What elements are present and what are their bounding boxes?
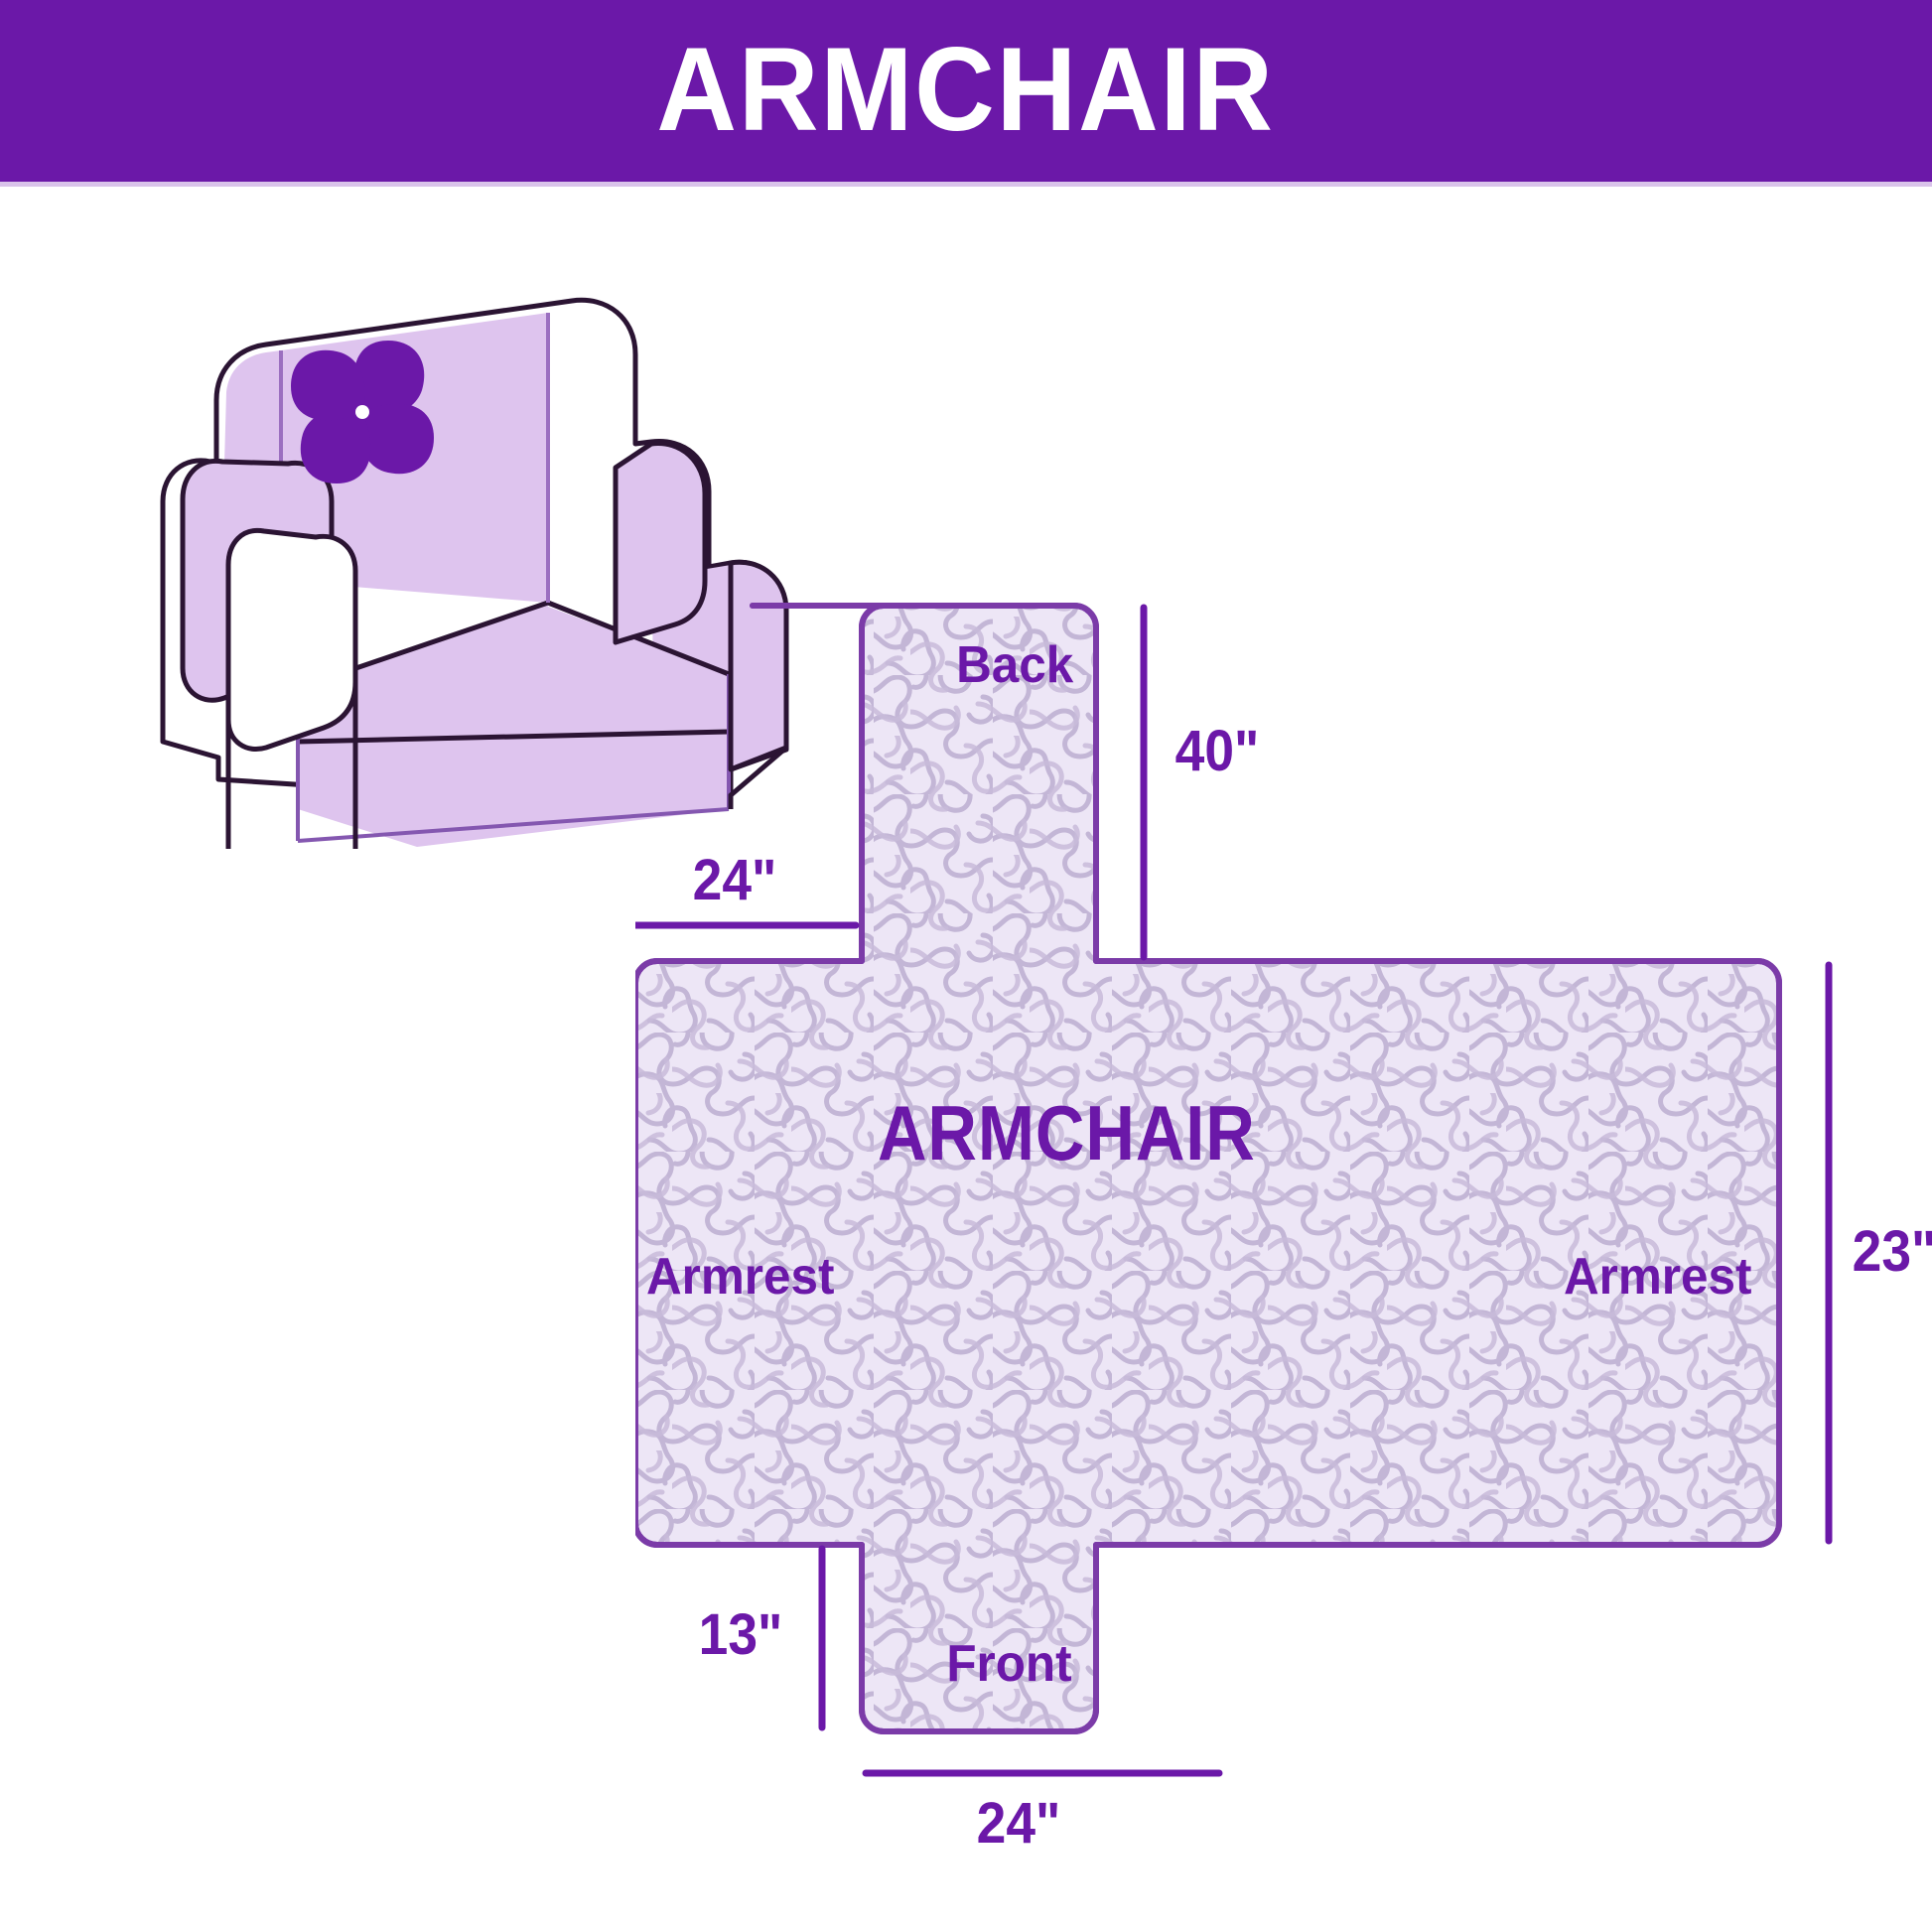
header-banner: ARMCHAIR bbox=[0, 0, 1932, 182]
dimension-label-back-height: 40" bbox=[1175, 723, 1260, 780]
panel-label-back: Back bbox=[956, 639, 1073, 691]
panel-label-armrest-right: Armrest bbox=[1564, 1251, 1751, 1303]
cover-diagram: Back ARMCHAIR Armrest Armrest Front 40" … bbox=[635, 556, 1886, 1827]
dimension-label-armrest-width: 24" bbox=[693, 852, 777, 909]
dimension-label-front-height: 13" bbox=[699, 1606, 783, 1664]
dimension-label-armrest-height: 23" bbox=[1853, 1223, 1932, 1281]
pinwheel-icon bbox=[291, 341, 434, 483]
banner-underline-divider bbox=[0, 182, 1932, 187]
cover-center-label: ARMCHAIR bbox=[878, 1094, 1256, 1172]
page-title: ARMCHAIR bbox=[657, 30, 1275, 149]
panel-label-armrest-left: Armrest bbox=[646, 1251, 834, 1303]
panel-label-front: Front bbox=[946, 1638, 1071, 1690]
dimension-label-front-width: 24" bbox=[977, 1795, 1061, 1853]
